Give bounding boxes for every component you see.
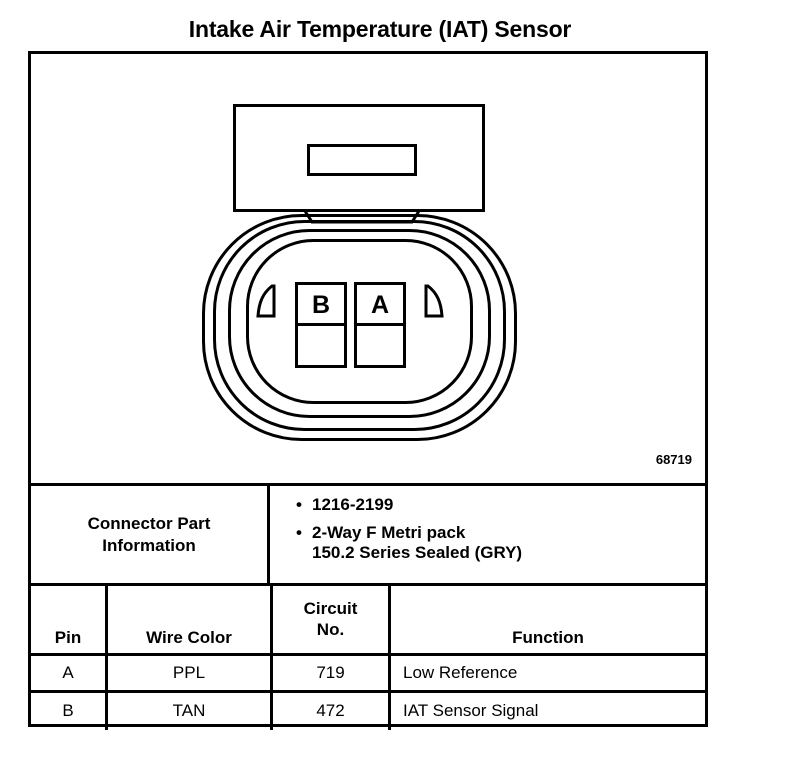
cell-function: Low Reference (391, 656, 705, 690)
diagram-frame: B A 68719 Connector Part Information • 1… (28, 51, 708, 727)
column-header-pin: Pin (31, 586, 108, 653)
cell-function: IAT Sensor Signal (391, 693, 705, 730)
page-title: Intake Air Temperature (IAT) Sensor (0, 16, 760, 43)
column-header-circuit-no-line-2: No. (304, 620, 358, 640)
table-row: B TAN 472 IAT Sensor Signal (31, 693, 705, 730)
bullet-icon: • (296, 495, 312, 516)
connector-part-information-label: Connector Part Information (31, 486, 270, 583)
connector-body-window (309, 146, 416, 175)
cell-wire-color: PPL (108, 656, 273, 690)
list-item: • 2-Way F Metri pack 150.2 Series Sealed… (296, 523, 705, 564)
terminal-label-b: B (312, 291, 330, 319)
cell-pin: B (31, 693, 108, 730)
connector-shell-outline-4 (248, 241, 472, 403)
connector-shell-outline-1 (204, 216, 516, 440)
cell-wire-color: TAN (108, 693, 273, 730)
bullet-icon: • (296, 523, 312, 544)
list-item: • 1216-2199 (296, 495, 705, 516)
column-header-circuit-no: Circuit No. (273, 586, 391, 653)
part-description-line-1: 2-Way F Metri pack (312, 523, 705, 544)
table-row: A PPL 719 Low Reference (31, 656, 705, 693)
connector-side-tab-right (426, 286, 442, 316)
column-header-function: Function (391, 586, 705, 653)
cpi-label-line-1: Connector Part (88, 513, 211, 534)
column-header-circuit-no-line-1: Circuit (304, 599, 358, 619)
column-header-wire-color: Wire Color (108, 586, 273, 653)
part-number-text: 1216-2199 (312, 495, 705, 516)
pin-table: Pin Wire Color Circuit No. Function A PP… (31, 583, 705, 778)
illustration-reference-number: 68719 (656, 452, 692, 467)
connector-part-information-value: • 1216-2199 • 2-Way F Metri pack 150.2 S… (270, 486, 705, 583)
part-description-line-2: 150.2 Series Sealed (GRY) (312, 543, 705, 564)
part-description-text: 2-Way F Metri pack 150.2 Series Sealed (… (312, 523, 705, 564)
connector-side-tab-left (258, 286, 274, 316)
cell-pin: A (31, 656, 108, 690)
connector-part-information-row: Connector Part Information • 1216-2199 •… (31, 483, 705, 583)
connector-upper-body (235, 106, 484, 211)
connector-illustration: B A (31, 54, 705, 483)
cpi-label-line-2: Information (88, 535, 211, 556)
cell-circuit-no: 472 (273, 693, 391, 730)
table-header-row: Pin Wire Color Circuit No. Function (31, 586, 705, 656)
cell-circuit-no: 719 (273, 656, 391, 690)
terminal-label-a: A (371, 291, 389, 319)
